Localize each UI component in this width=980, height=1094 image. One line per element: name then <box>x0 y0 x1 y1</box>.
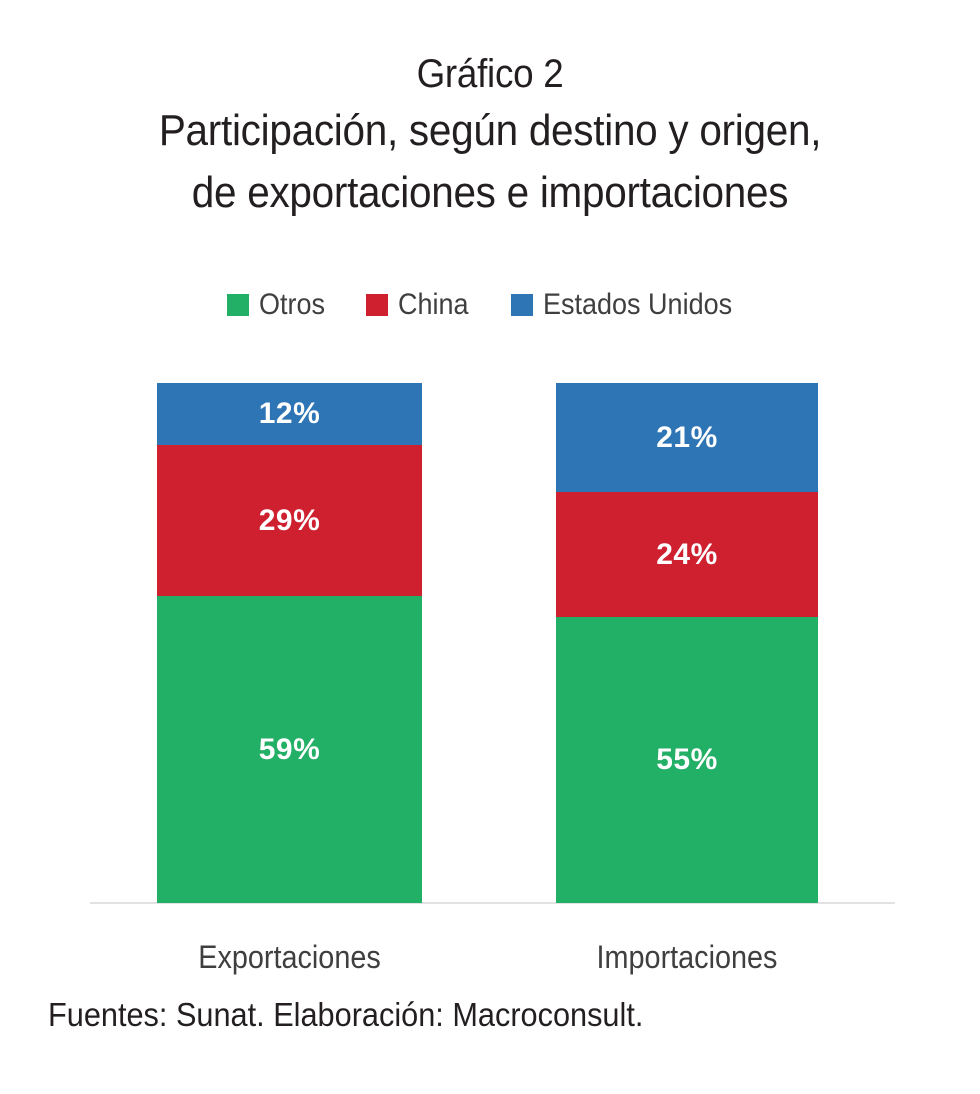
bar-segment-estados-unidos[interactable]: 21% <box>556 383 818 492</box>
bar-segment-value-label: 29% <box>259 504 321 538</box>
bar-segment-otros[interactable]: 59% <box>157 596 422 903</box>
bar-exportaciones[interactable]: 12% 29% 59% <box>157 383 422 903</box>
bar-segment-value-label: 24% <box>656 538 718 572</box>
bar-segment-otros[interactable]: 55% <box>556 617 818 903</box>
plot-area: 12% 29% 59% 21% 24% 55% Exportaciones Im… <box>0 0 980 1094</box>
bar-importaciones[interactable]: 21% 24% 55% <box>556 383 818 903</box>
bar-segment-estados-unidos[interactable]: 12% <box>157 383 422 445</box>
bar-segment-china[interactable]: 29% <box>157 445 422 596</box>
source-footnote: Fuentes: Sunat. Elaboración: Macroconsul… <box>48 995 643 1035</box>
x-axis-tick-label-exportaciones: Exportaciones <box>170 938 409 976</box>
bar-segment-value-label: 12% <box>259 397 321 431</box>
bar-segment-value-label: 59% <box>259 733 321 767</box>
bar-segment-china[interactable]: 24% <box>556 492 818 617</box>
x-axis-tick-label-importaciones: Importaciones <box>569 938 805 976</box>
bar-segment-value-label: 55% <box>656 743 718 777</box>
bar-segment-value-label: 21% <box>656 421 718 455</box>
chart-figure: Gráfico 2 Participación, según destino y… <box>0 0 980 1094</box>
